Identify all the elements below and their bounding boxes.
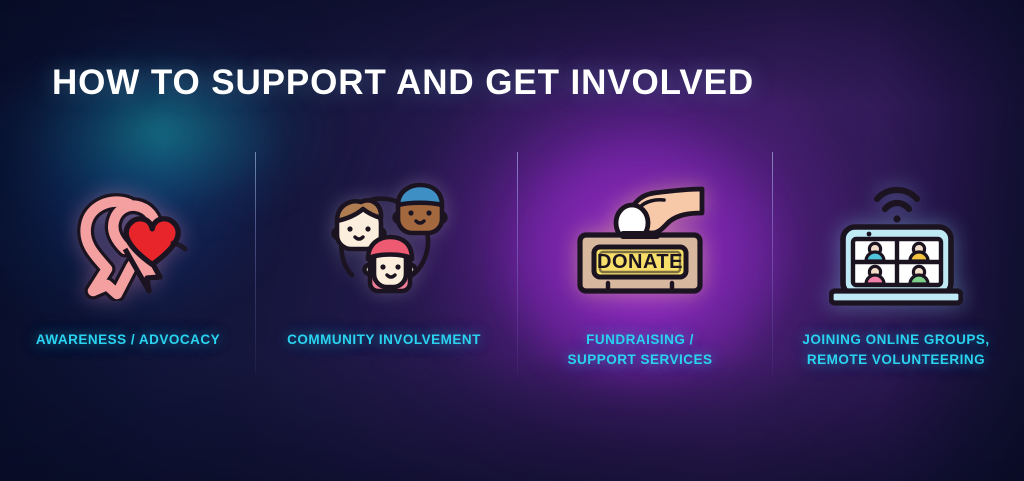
support-option-label-awareness: AWARENESS / ADVOCACY (36, 330, 220, 350)
support-option-awareness: AWARENESS / ADVOCACY (0, 150, 256, 420)
support-option-label-community: COMMUNITY INVOLVEMENT (287, 330, 481, 350)
avatar-person-b (395, 185, 446, 233)
three-people-circle-icon (318, 177, 450, 303)
video-tile-1 (866, 243, 884, 261)
fundraising-icon-wrap: DONATE (574, 150, 706, 330)
awareness-icon-wrap (67, 150, 189, 330)
video-tile-2 (910, 243, 928, 261)
video-tile-4 (910, 266, 928, 284)
avatar-person-c (365, 237, 416, 291)
wifi-icon (877, 190, 917, 223)
donation-box-hand-icon: DONATE (574, 179, 706, 301)
donate-label: DONATE (597, 251, 683, 273)
infographic-root: HOW TO SUPPORT AND GET INVOLVED (0, 0, 1024, 481)
laptop-video-call-wifi-icon (829, 173, 963, 307)
online-icon-wrap (829, 150, 963, 330)
support-option-label-fundraising: FUNDRAISING / SUPPORT SERVICES (567, 330, 712, 369)
support-options-row: AWARENESS / ADVOCACY (0, 150, 1024, 420)
page-title: HOW TO SUPPORT AND GET INVOLVED (52, 63, 754, 103)
support-option-online: JOINING ONLINE GROUPS, REMOTE VOLUNTEERI… (768, 150, 1024, 420)
video-tile-3 (866, 266, 884, 284)
support-option-community: COMMUNITY INVOLVEMENT (256, 150, 512, 420)
support-option-fundraising: DONATE FUNDRAISING / SUPPORT SERVICES (512, 150, 768, 420)
support-option-label-online: JOINING ONLINE GROUPS, REMOTE VOLUNTEERI… (802, 330, 989, 369)
community-icon-wrap (318, 150, 450, 330)
ribbon-heart-icon (67, 179, 189, 301)
